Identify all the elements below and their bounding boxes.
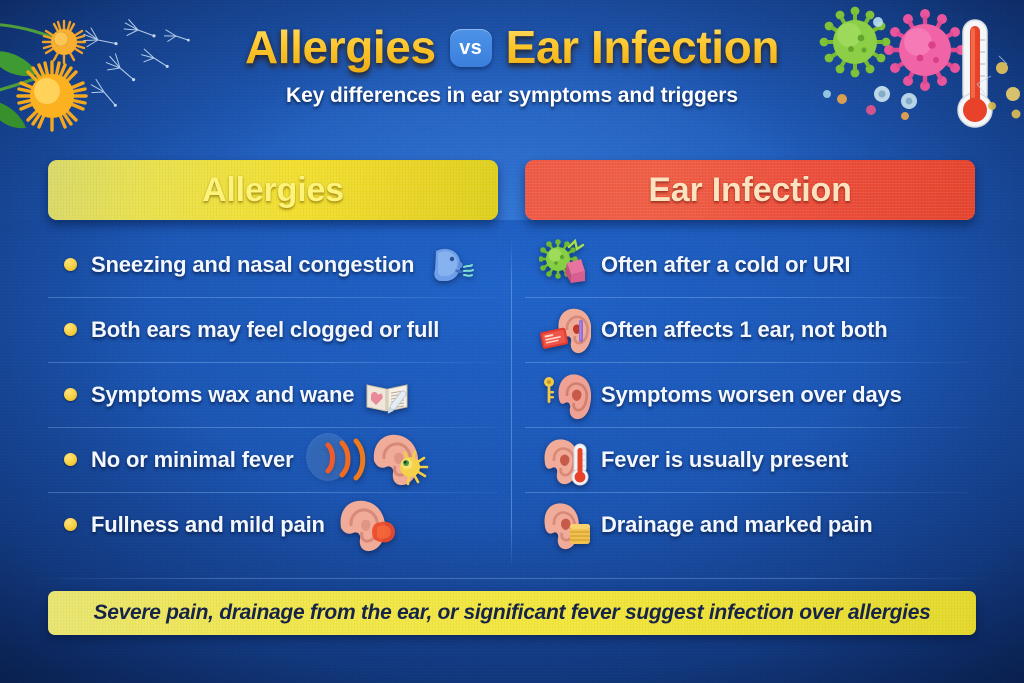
- list-item: Often after a cold or URI: [525, 232, 975, 297]
- title-right-word: Ear Infection: [506, 20, 779, 74]
- list-item-label: Often affects 1 ear, not both: [601, 317, 888, 343]
- bullet-icon: [64, 258, 77, 271]
- poster-header: Allergies vs Ear Infection Key differenc…: [0, 14, 1024, 108]
- list-item: Both ears may feel clogged or full: [48, 297, 504, 362]
- column-header-ear-infection-label: Ear Infection: [648, 171, 851, 210]
- footer-separator: [32, 578, 992, 579]
- ear-pressure-icon: [333, 499, 403, 551]
- footer-note-banner: Severe pain, drainage from the ear, or s…: [48, 591, 976, 635]
- list-item-label: Both ears may feel clogged or full: [91, 317, 439, 343]
- list-item-label: Fullness and mild pain: [91, 512, 325, 538]
- bullet-icon: [64, 388, 77, 401]
- list-item: Often affects 1 ear, not both: [525, 297, 975, 362]
- sneezing-face-icon: [422, 239, 474, 291]
- ear-worsening-icon: [539, 369, 591, 421]
- list-item-label: Drainage and marked pain: [601, 512, 873, 538]
- vs-badge: vs: [450, 29, 492, 67]
- list-item-label: Symptoms worsen over days: [601, 382, 902, 408]
- list-item-label: Fever is usually present: [601, 447, 848, 473]
- ear-drainage-icon: [539, 499, 591, 551]
- column-header-ear-infection: Ear Infection: [525, 160, 975, 220]
- list-item: Symptoms worsen over days: [525, 362, 975, 427]
- list-item-label: Often after a cold or URI: [601, 252, 850, 278]
- ear-thermometer-icon: [539, 434, 591, 486]
- title-left-word: Allergies: [245, 20, 436, 74]
- infographic-poster: Allergies vs Ear Infection Key differenc…: [0, 0, 1024, 683]
- open-book-pen-icon: [362, 369, 414, 421]
- column-header-allergies-label: Allergies: [202, 171, 344, 210]
- ear-inflamed-icon: [539, 304, 591, 356]
- list-item-label: Symptoms wax and wane: [91, 382, 354, 408]
- list-item: Fullness and mild pain: [48, 492, 504, 557]
- virus-tissue-icon: [539, 239, 591, 291]
- bullet-icon: [64, 453, 77, 466]
- list-item-label: No or minimal fever: [91, 447, 294, 473]
- page-subtitle: Key differences in ear symptoms and trig…: [0, 84, 1024, 108]
- list-item: Symptoms wax and wane: [48, 362, 504, 427]
- list-item: Sneezing and nasal congestion: [48, 232, 504, 297]
- title-row: Allergies vs Ear Infection: [0, 14, 1024, 80]
- column-header-allergies: Allergies: [48, 160, 498, 220]
- list-item: Fever is usually present: [525, 427, 975, 492]
- column-allergies: Sneezing and nasal congestion: [48, 232, 504, 570]
- column-ear-infection: Often after a cold or URI: [525, 232, 975, 570]
- bullet-icon: [64, 323, 77, 336]
- bullet-icon: [64, 518, 77, 531]
- footer-note-text: Severe pain, drainage from the ear, or s…: [94, 601, 931, 625]
- list-item-label: Sneezing and nasal congestion: [91, 252, 414, 278]
- list-item: No or minimal fever: [48, 427, 504, 492]
- ear-sound-waves-icon: [302, 434, 442, 486]
- comparison-columns: Sneezing and nasal congestion: [0, 232, 1024, 570]
- list-item: Drainage and marked pain: [525, 492, 975, 557]
